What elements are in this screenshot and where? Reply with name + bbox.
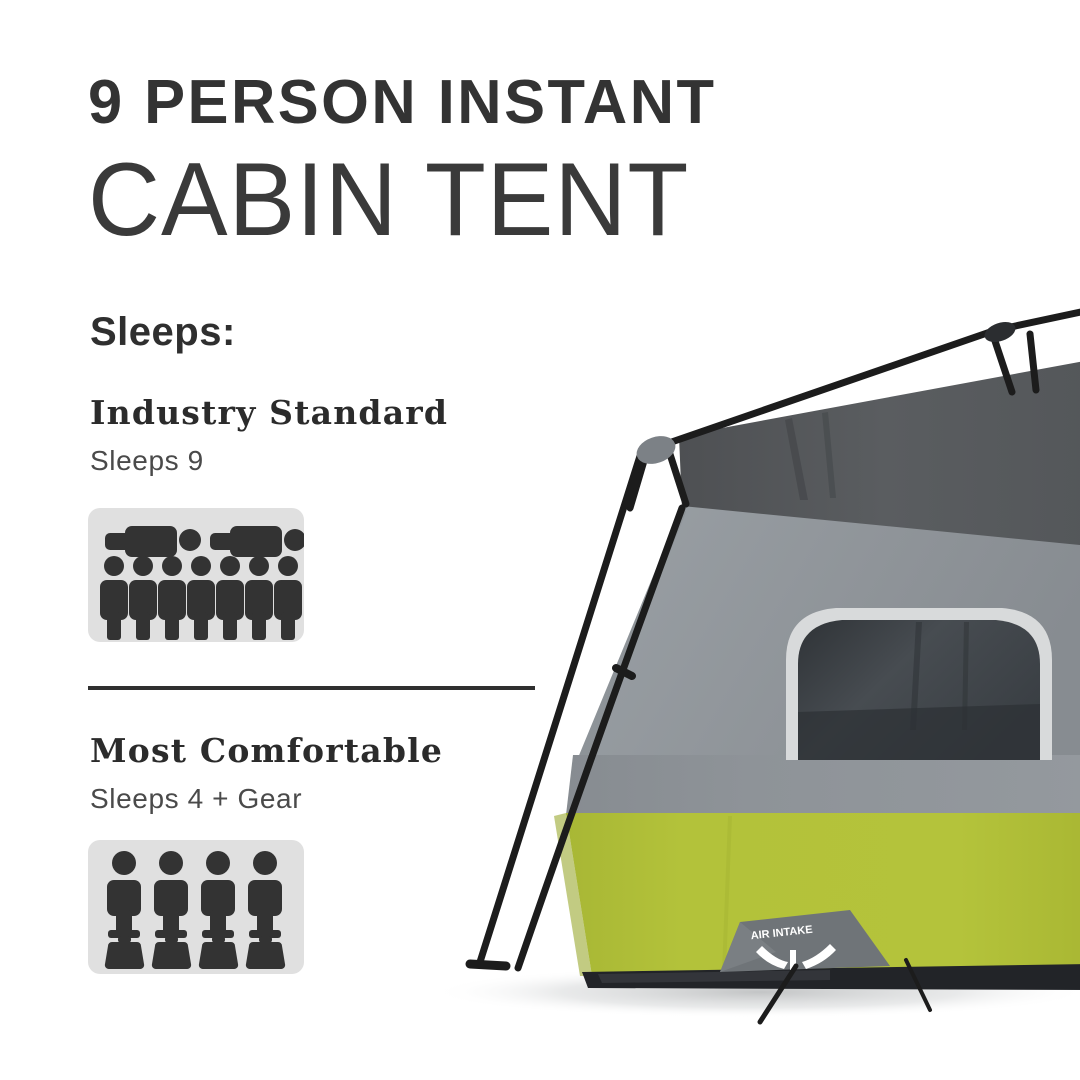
tent-product-image: AIR INTAKE xyxy=(330,250,1080,1050)
page-title: 9 PERSON INSTANT CABIN TENT xyxy=(88,72,1008,252)
gear-bags-row xyxy=(105,936,285,969)
four-person-plus-gear-icon xyxy=(88,840,304,974)
sleeps-heading: Sleeps: xyxy=(90,310,236,354)
pole-foot-left xyxy=(470,964,506,966)
tent-wall-gray-lower xyxy=(566,755,1080,815)
pole-ridge-right xyxy=(1006,310,1080,328)
tent-door xyxy=(786,608,1052,760)
four-person-plus-gear-glyph xyxy=(88,840,304,974)
title-line-secondary: CABIN TENT xyxy=(88,148,971,252)
infographic-canvas: 9 PERSON INSTANT CABIN TENT Sleeps: Indu… xyxy=(0,0,1080,1080)
door-mesh-lower xyxy=(798,704,1040,760)
standing-figures-row xyxy=(100,556,302,640)
pole-hub-right xyxy=(982,318,1018,345)
nine-person-sleeping-icon xyxy=(88,508,304,642)
title-line-primary: 9 PERSON INSTANT xyxy=(88,72,999,134)
nine-person-sleeping-glyph xyxy=(88,508,304,642)
tent-illustration: AIR INTAKE xyxy=(330,250,1080,1050)
